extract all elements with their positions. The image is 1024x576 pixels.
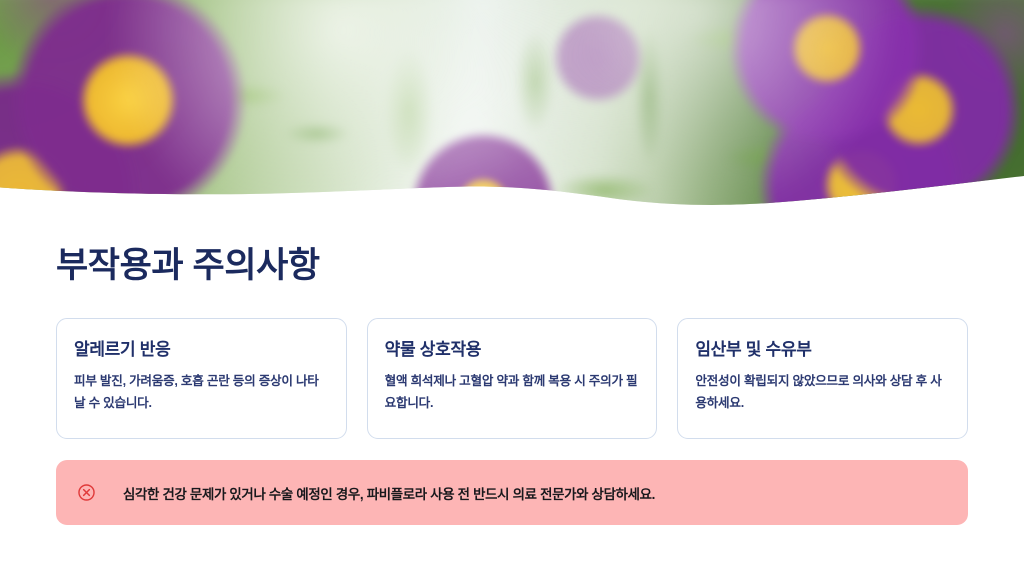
warning-banner: 심각한 건강 문제가 있거나 수술 예정인 경우, 파비플로라 사용 전 반드시… — [56, 460, 968, 525]
card-body: 안전성이 확립되지 않았으므로 의사와 상담 후 사용하세요. — [695, 371, 950, 414]
card-pregnancy-breastfeeding: 임산부 및 수유부 안전성이 확립되지 않았으므로 의사와 상담 후 사용하세요… — [677, 318, 968, 439]
circle-x-icon — [77, 483, 96, 502]
card-title: 약물 상호작용 — [385, 335, 640, 360]
cards-row: 알레르기 반응 피부 발진, 가려움증, 호흡 곤란 등의 증상이 나타날 수 … — [56, 318, 968, 439]
card-title: 임산부 및 수유부 — [695, 335, 950, 360]
slide-root: 부작용과 주의사항 알레르기 반응 피부 발진, 가려움증, 호흡 곤란 등의 … — [0, 0, 1024, 576]
warning-text: 심각한 건강 문제가 있거나 수술 예정인 경우, 파비플로라 사용 전 반드시… — [123, 483, 655, 503]
card-title: 알레르기 반응 — [74, 335, 329, 360]
hero-highlight-layer — [0, 0, 1024, 210]
hero-image — [0, 0, 1024, 210]
hero-photo — [0, 0, 1024, 210]
card-allergic-reaction: 알레르기 반응 피부 발진, 가려움증, 호흡 곤란 등의 증상이 나타날 수 … — [56, 318, 347, 439]
page-title: 부작용과 주의사항 — [56, 237, 320, 288]
card-body: 피부 발진, 가려움증, 호흡 곤란 등의 증상이 나타날 수 있습니다. — [74, 371, 329, 414]
card-body: 혈액 희석제나 고혈압 약과 함께 복용 시 주의가 필요합니다. — [385, 371, 640, 414]
card-drug-interaction: 약물 상호작용 혈액 희석제나 고혈압 약과 함께 복용 시 주의가 필요합니다… — [367, 318, 658, 439]
